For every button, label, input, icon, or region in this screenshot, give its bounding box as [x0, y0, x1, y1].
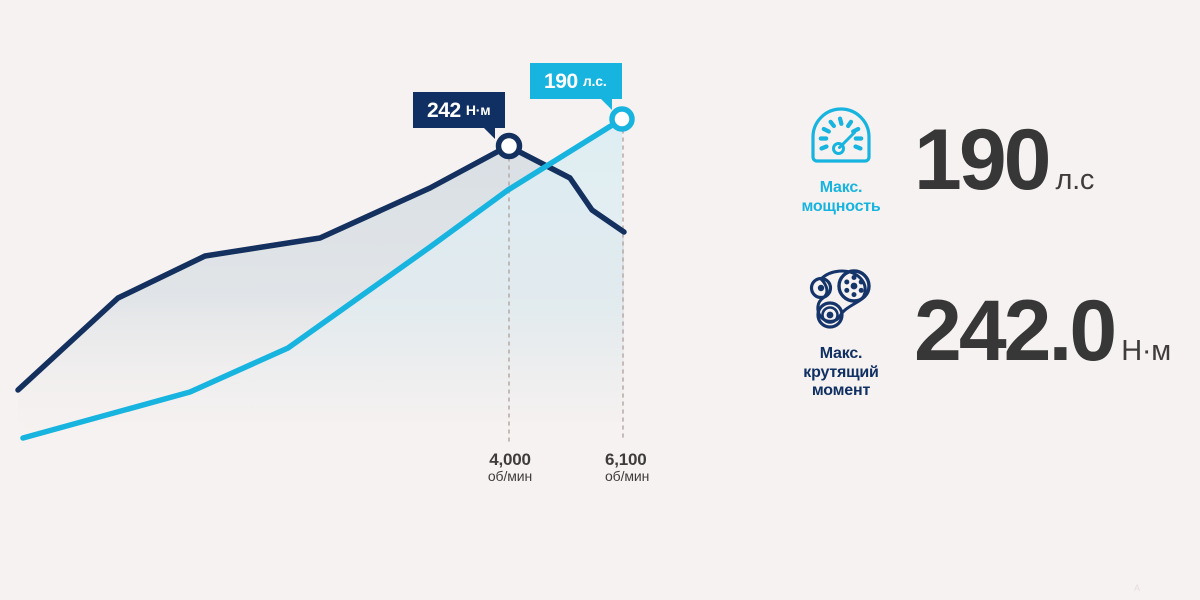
stat-max-torque-caption-line2: крутящий [803, 364, 878, 381]
stat-max-power: Макс. мощность 190 л.с [780, 104, 1094, 216]
stat-max-torque-unit: Н·м [1121, 335, 1171, 368]
belt-pulley-icon [804, 262, 878, 336]
torque-marker-dot[interactable] [499, 136, 520, 157]
x-tick-6100-unit: об/мин [605, 469, 668, 485]
torque-value-badge: 242 Н·м [413, 92, 505, 128]
stat-max-torque: Макс. крутящий момент 242.0 Н·м [780, 262, 1171, 401]
torque-badge-value: 242 [427, 100, 461, 121]
stat-max-power-number-block: 190 л.с [914, 117, 1094, 203]
x-tick-4000: 4,000 об/мин [460, 450, 560, 485]
stat-max-torque-number-block: 242.0 Н·м [914, 288, 1171, 374]
stat-max-torque-icon-block: Макс. крутящий момент [780, 262, 902, 401]
power-badge-unit: л.с. [583, 74, 607, 88]
engine-performance-chart: 242 Н·м 190 л.с. 4,000 об/мин 6,100 об/м… [0, 0, 700, 600]
x-tick-6100: 6,100 об/мин [578, 450, 668, 485]
x-tick-4000-value: 4,000 [460, 450, 560, 469]
engine-stats-panel: Макс. мощность 190 л.с [780, 0, 1200, 600]
x-tick-6100-clip: 6,100 об/мин [578, 450, 668, 496]
stat-max-power-icon-block: Макс. мощность [780, 104, 902, 216]
infographic-root: 242 Н·м 190 л.с. 4,000 об/мин 6,100 об/м… [0, 0, 1200, 600]
stat-max-power-caption: Макс. мощность [801, 179, 880, 216]
stat-max-power-number: 190 [914, 117, 1049, 203]
stat-max-power-caption-line2: мощность [801, 198, 880, 215]
stat-max-power-unit: л.с [1056, 164, 1095, 197]
x-tick-6100-value: 6,100 [605, 450, 668, 469]
power-badge-value: 190 [544, 71, 578, 92]
stat-max-torque-caption: Макс. крутящий момент [803, 345, 878, 401]
stat-max-power-caption-line1: Макс. [820, 179, 863, 196]
x-tick-4000-unit: об/мин [460, 469, 560, 485]
torque-badge-unit: Н·м [466, 103, 491, 117]
power-marker-dot[interactable] [612, 109, 632, 129]
power-value-badge: 190 л.с. [530, 63, 622, 99]
stat-max-torque-number: 242.0 [914, 288, 1114, 374]
watermark: A [1134, 584, 1140, 593]
speedometer-icon [808, 104, 874, 170]
stat-max-torque-caption-line3: момент [812, 382, 870, 399]
stat-max-torque-caption-line1: Макс. [820, 345, 863, 362]
